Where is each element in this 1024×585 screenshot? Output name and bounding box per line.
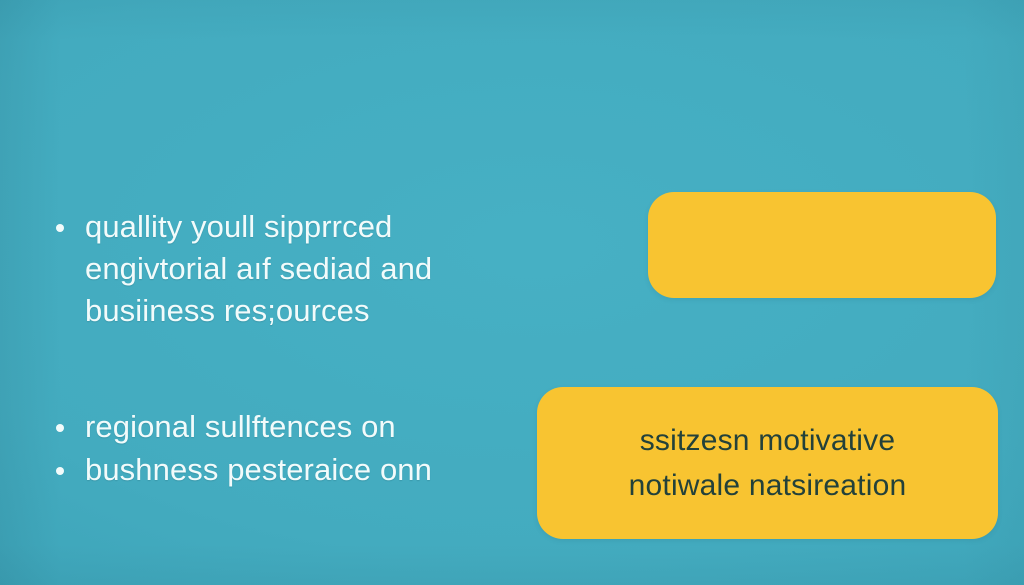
highlight-card-text-content: ssitzesn motivative notiwale natsireatio… xyxy=(611,418,925,508)
list-item-line: quallity youll sipprrced xyxy=(85,206,502,248)
list-item-line: busiiness res;ources xyxy=(85,290,502,332)
highlight-card-line: notiwale natsireation xyxy=(629,463,907,508)
highlight-card-text[interactable]: ssitzesn motivative notiwale natsireatio… xyxy=(537,387,998,539)
list-item: quallity youll sipprrced engivtorial aıf… xyxy=(52,206,502,332)
highlight-card-empty[interactable] xyxy=(648,192,996,298)
list-item: bushness pesteraice onn xyxy=(52,449,502,491)
slide-canvas: quallity youll sipprrced engivtorial aıf… xyxy=(0,0,1024,585)
bullet-group-2: regional sullftences on bushness pestera… xyxy=(52,406,502,491)
bullet-group-1: quallity youll sipprrced engivtorial aıf… xyxy=(52,206,502,332)
list-item-line: engivtorial aıf sediad and xyxy=(85,248,502,290)
list-item-line: regional sullftences on xyxy=(85,406,502,448)
bullet-dot-icon xyxy=(56,224,64,232)
bullet-dot-icon xyxy=(56,424,64,432)
bullet-dot-icon xyxy=(56,467,64,475)
list-item-line: bushness pesteraice onn xyxy=(85,449,502,491)
highlight-card-line: ssitzesn motivative xyxy=(629,418,907,463)
list-item: regional sullftences on xyxy=(52,406,502,448)
bullet-list: quallity youll sipprrced engivtorial aıf… xyxy=(52,206,502,491)
